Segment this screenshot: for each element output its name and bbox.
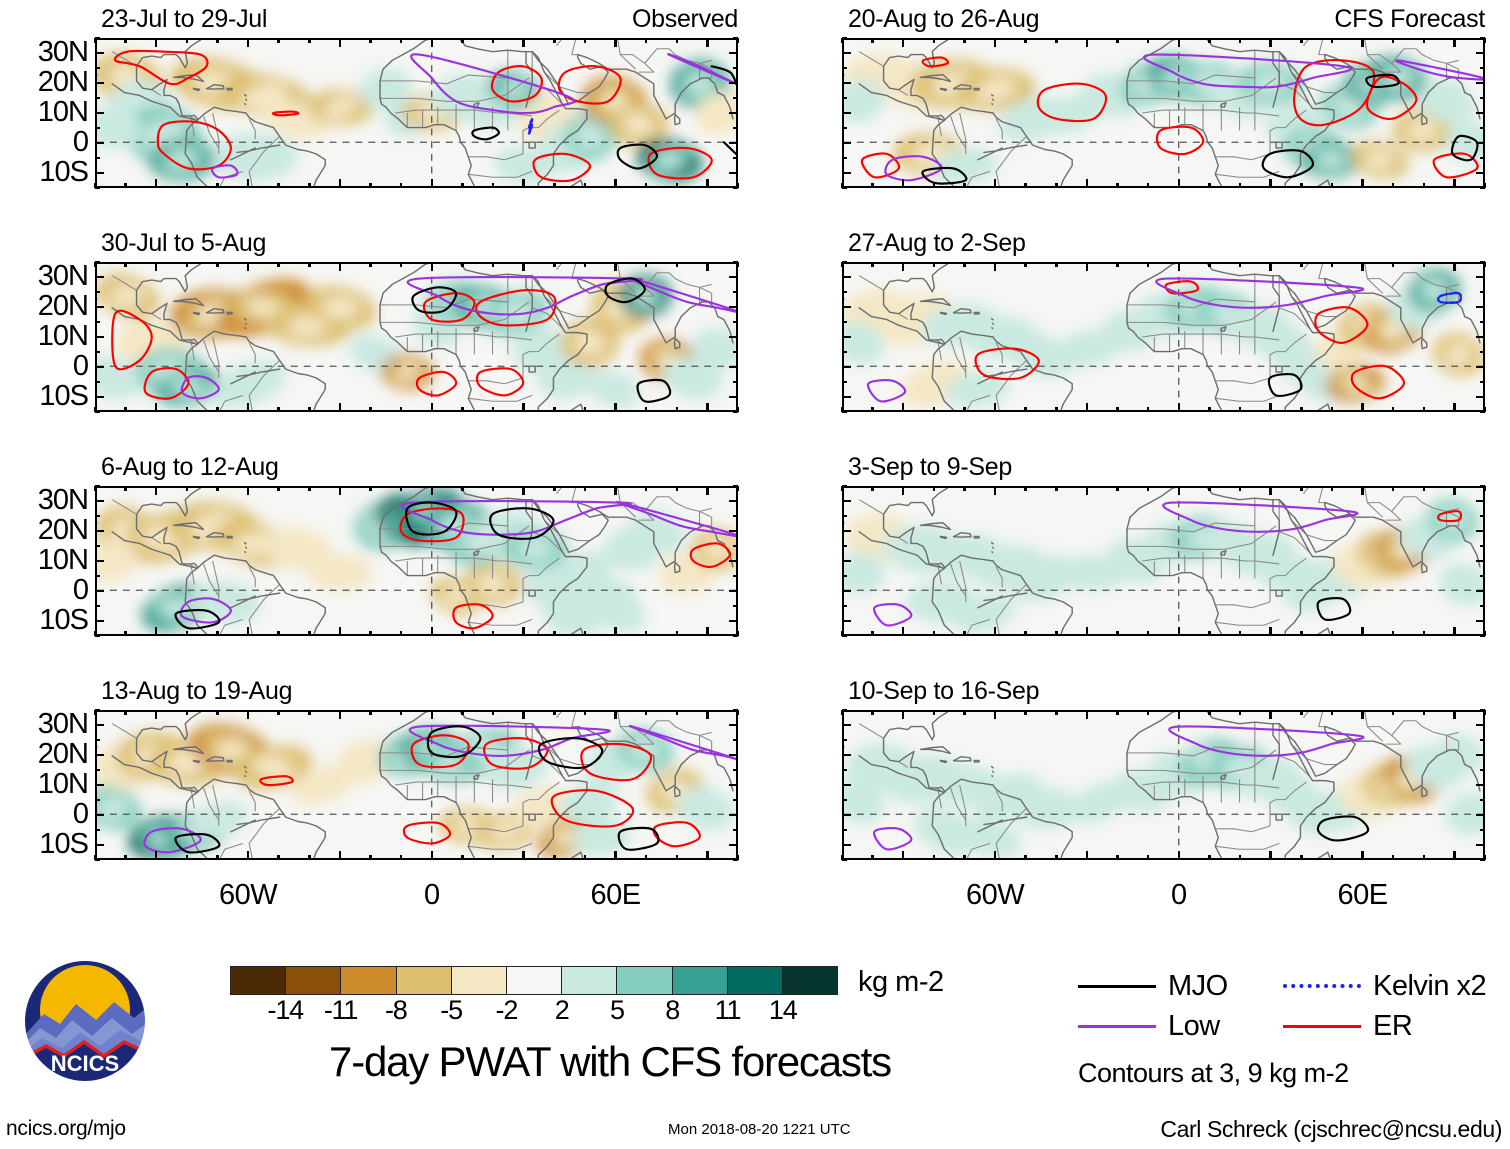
axis-tick <box>1480 187 1485 190</box>
axis-tick <box>733 635 738 638</box>
panel-title: 30-Jul to 5-Aug <box>101 231 266 256</box>
axis-tick <box>400 710 403 715</box>
axis-tick <box>369 631 372 636</box>
axis-tick <box>842 515 847 518</box>
y-axis-tick-label: 10N <box>0 770 88 799</box>
axis-tick <box>339 403 342 412</box>
colorbar-swatch <box>728 967 783 994</box>
axis-tick <box>842 620 851 623</box>
axis-tick <box>933 407 936 412</box>
legend-entry-low: Low <box>1078 1012 1283 1041</box>
axis-tick <box>1361 38 1364 47</box>
axis-tick <box>1361 403 1364 412</box>
axis-tick <box>733 351 738 354</box>
axis-tick <box>1055 183 1058 188</box>
timestamp: Mon 2018-08-20 1221 UTC <box>668 1122 851 1137</box>
axis-tick <box>645 486 648 491</box>
y-axis-tick-label: 20N <box>0 68 88 97</box>
axis-tick <box>1239 486 1242 491</box>
axis-tick <box>729 590 738 593</box>
map-canvas <box>844 712 1483 858</box>
colorbar-tick-label: -14 <box>268 995 303 1025</box>
axis-tick <box>842 411 847 414</box>
axis-tick <box>461 183 464 188</box>
axis-tick <box>339 486 342 495</box>
axis-tick <box>1392 262 1395 267</box>
axis-tick <box>216 486 219 491</box>
axis-tick <box>842 799 847 802</box>
axis-tick <box>1480 411 1485 414</box>
axis-tick <box>729 724 738 727</box>
axis-tick <box>729 754 738 757</box>
axis-tick <box>369 855 372 860</box>
y-axis-tick-label: 10N <box>0 98 88 127</box>
axis-tick <box>1300 855 1303 860</box>
axis-tick <box>842 261 847 264</box>
y-axis-tick-label: 0 <box>0 352 88 381</box>
axis-tick <box>1423 855 1426 860</box>
axis-tick <box>963 486 966 491</box>
axis-tick <box>1147 183 1150 188</box>
axis-tick <box>308 631 311 636</box>
axis-tick <box>706 710 709 719</box>
axis-tick <box>1055 262 1058 267</box>
axis-tick <box>733 739 738 742</box>
axis-tick <box>733 97 738 100</box>
axis-tick <box>339 851 342 860</box>
axis-tick <box>676 631 679 636</box>
axis-tick <box>842 321 847 324</box>
axis-tick <box>1178 710 1181 719</box>
axis-tick <box>1480 515 1485 518</box>
axis-tick <box>461 631 464 636</box>
axis-tick <box>1476 52 1485 55</box>
legend-line-swatch <box>1283 984 1361 988</box>
axis-tick <box>1208 486 1211 491</box>
axis-tick <box>95 411 100 414</box>
axis-tick <box>124 38 127 43</box>
axis-tick <box>95 560 104 563</box>
axis-tick <box>1086 179 1089 188</box>
axis-tick <box>1392 710 1395 715</box>
axis-tick <box>842 67 847 70</box>
axis-tick <box>1178 627 1181 636</box>
axis-tick <box>1480 829 1485 832</box>
axis-tick <box>676 38 679 43</box>
axis-tick <box>1392 183 1395 188</box>
axis-tick <box>1453 262 1456 271</box>
axis-tick <box>1453 710 1456 719</box>
axis-tick <box>1476 724 1485 727</box>
axis-tick <box>492 486 495 491</box>
axis-tick <box>339 262 342 271</box>
axis-tick <box>1476 784 1485 787</box>
axis-tick <box>729 52 738 55</box>
site-url[interactable]: ncics.org/mjo <box>6 1118 126 1139</box>
map-canvas <box>97 40 736 186</box>
axis-tick <box>584 38 587 43</box>
axis-tick <box>1300 486 1303 491</box>
axis-tick <box>400 486 403 491</box>
axis-tick <box>1178 38 1181 47</box>
axis-tick <box>1331 38 1334 43</box>
axis-tick <box>842 336 851 339</box>
axis-tick <box>553 407 556 412</box>
axis-tick <box>216 855 219 860</box>
forecast-header: CFS Forecast <box>842 7 1485 32</box>
axis-tick <box>842 575 847 578</box>
axis-tick <box>645 38 648 43</box>
legend-row: LowER <box>1078 1006 1498 1046</box>
axis-tick <box>186 262 189 267</box>
axis-tick <box>1239 710 1242 715</box>
axis-tick <box>902 486 905 495</box>
axis-tick <box>729 142 738 145</box>
axis-tick <box>553 710 556 715</box>
axis-tick <box>842 82 851 85</box>
observed-header: Observed <box>95 7 738 32</box>
axis-tick <box>1476 590 1485 593</box>
axis-tick <box>1361 627 1364 636</box>
axis-tick <box>933 710 936 715</box>
axis-tick <box>614 710 617 719</box>
axis-tick <box>1086 403 1089 412</box>
axis-tick <box>186 631 189 636</box>
axis-tick <box>706 627 709 636</box>
axis-tick <box>1239 183 1242 188</box>
axis-tick <box>902 38 905 47</box>
axis-tick <box>733 381 738 384</box>
axis-tick <box>933 38 936 43</box>
axis-tick <box>1480 321 1485 324</box>
axis-tick <box>1480 37 1485 40</box>
axis-tick <box>1331 710 1334 715</box>
axis-tick <box>216 183 219 188</box>
axis-tick <box>1361 710 1364 719</box>
axis-tick <box>553 183 556 188</box>
map-panel <box>95 710 738 860</box>
y-axis-tick-label: 30N <box>0 38 88 67</box>
axis-tick <box>1361 851 1364 860</box>
x-axis-tick-label: 60W <box>188 881 308 910</box>
axis-tick <box>733 291 738 294</box>
axis-tick <box>492 183 495 188</box>
axis-tick <box>492 407 495 412</box>
axis-tick <box>186 38 189 43</box>
axis-tick <box>902 851 905 860</box>
axis-tick <box>842 769 847 772</box>
axis-tick <box>216 631 219 636</box>
axis-tick <box>1480 575 1485 578</box>
legend-line-swatch <box>1078 985 1156 988</box>
axis-tick <box>1147 38 1150 43</box>
axis-tick <box>729 500 738 503</box>
map-canvas <box>97 488 736 634</box>
axis-tick <box>842 291 847 294</box>
axis-tick <box>124 262 127 267</box>
x-axis-tick-label: 0 <box>372 881 492 910</box>
axis-tick <box>277 710 280 715</box>
axis-tick <box>1480 381 1485 384</box>
axis-tick <box>155 179 158 188</box>
axis-tick <box>842 157 847 160</box>
axis-tick <box>95 844 104 847</box>
axis-tick <box>1423 262 1426 267</box>
axis-tick <box>461 486 464 491</box>
axis-tick <box>431 851 434 860</box>
axis-tick <box>1476 366 1485 369</box>
axis-tick <box>1239 38 1242 43</box>
axis-tick <box>216 407 219 412</box>
axis-tick <box>1300 407 1303 412</box>
axis-tick <box>994 38 997 47</box>
axis-tick <box>1147 855 1150 860</box>
axis-tick <box>1086 38 1089 47</box>
axis-tick <box>1300 183 1303 188</box>
axis-tick <box>522 486 525 495</box>
axis-tick <box>584 262 587 267</box>
axis-tick <box>1480 67 1485 70</box>
axis-tick <box>733 321 738 324</box>
axis-tick <box>431 403 434 412</box>
axis-tick <box>1024 38 1027 43</box>
axis-tick <box>461 38 464 43</box>
y-axis-tick-label: 10N <box>0 322 88 351</box>
axis-tick <box>553 631 556 636</box>
axis-tick <box>522 262 525 271</box>
axis-tick <box>247 710 250 719</box>
axis-tick <box>871 710 874 715</box>
axis-tick <box>1453 179 1456 188</box>
axis-tick <box>1453 486 1456 495</box>
axis-tick <box>553 38 556 43</box>
axis-tick <box>1147 710 1150 715</box>
colorbar-tick-label: -2 <box>496 995 518 1025</box>
axis-tick <box>842 306 851 309</box>
y-axis-tick-label: 10S <box>0 830 88 859</box>
axis-tick <box>1361 262 1364 271</box>
axis-tick <box>95 620 104 623</box>
colorbar-swatch <box>562 967 617 994</box>
axis-tick <box>1480 799 1485 802</box>
axis-tick <box>645 710 648 715</box>
axis-tick <box>186 183 189 188</box>
axis-tick <box>247 262 250 271</box>
axis-tick <box>124 631 127 636</box>
axis-tick <box>1331 407 1334 412</box>
axis-tick <box>1392 38 1395 43</box>
axis-tick <box>729 112 738 115</box>
map-panel <box>95 38 738 188</box>
axis-tick <box>1423 631 1426 636</box>
axis-tick <box>1116 38 1119 43</box>
colorbar-tick-label: 11 <box>715 995 741 1025</box>
axis-tick <box>1024 407 1027 412</box>
axis-tick <box>95 67 100 70</box>
axis-tick <box>963 38 966 43</box>
legend-line-swatch <box>1078 1025 1156 1028</box>
axis-tick <box>1392 407 1395 412</box>
map-panel <box>842 710 1485 860</box>
axis-tick <box>1300 631 1303 636</box>
axis-tick <box>339 38 342 47</box>
axis-tick <box>1453 403 1456 412</box>
x-axis-tick-label: 0 <box>1119 881 1239 910</box>
axis-tick <box>95 336 104 339</box>
axis-tick <box>1178 403 1181 412</box>
axis-tick <box>155 710 158 719</box>
colorbar-swatch <box>507 967 562 994</box>
axis-tick <box>522 179 525 188</box>
axis-tick <box>308 486 311 491</box>
axis-tick <box>1269 262 1272 271</box>
y-axis-tick-label: 10N <box>0 546 88 575</box>
axis-tick <box>1480 769 1485 772</box>
axis-tick <box>871 631 874 636</box>
axis-tick <box>369 710 372 715</box>
author-credit: Carl Schreck (cjschrec@ncsu.edu) <box>1160 1118 1502 1141</box>
colorbar-swatch <box>673 967 728 994</box>
axis-tick <box>95 500 104 503</box>
axis-tick <box>431 179 434 188</box>
axis-tick <box>1116 262 1119 267</box>
panel-title: 10-Sep to 16-Sep <box>848 679 1039 704</box>
axis-tick <box>1453 627 1456 636</box>
axis-tick <box>1147 631 1150 636</box>
axis-tick <box>614 179 617 188</box>
colorbar-units-label: kg m-2 <box>858 968 944 997</box>
axis-tick <box>277 631 280 636</box>
axis-tick <box>963 710 966 715</box>
legend-label: MJO <box>1168 972 1228 1001</box>
axis-tick <box>1055 855 1058 860</box>
axis-tick <box>994 486 997 495</box>
map-canvas <box>844 40 1483 186</box>
axis-tick <box>277 407 280 412</box>
axis-tick <box>461 262 464 267</box>
axis-tick <box>1269 486 1272 495</box>
y-axis-tick-label: 10S <box>0 606 88 635</box>
axis-tick <box>729 620 738 623</box>
axis-tick <box>95 157 100 160</box>
axis-tick <box>871 407 874 412</box>
axis-tick <box>842 112 851 115</box>
axis-tick <box>733 545 738 548</box>
axis-tick <box>733 261 738 264</box>
axis-tick <box>308 855 311 860</box>
axis-tick <box>706 403 709 412</box>
axis-tick <box>1208 262 1211 267</box>
axis-tick <box>733 859 738 862</box>
page-title: 7-day PWAT with CFS forecasts <box>230 1040 990 1084</box>
axis-tick <box>614 627 617 636</box>
y-axis-tick-label: 0 <box>0 800 88 829</box>
axis-tick <box>902 710 905 719</box>
axis-tick <box>369 183 372 188</box>
axis-tick <box>842 739 847 742</box>
axis-tick <box>553 855 556 860</box>
axis-tick <box>842 172 851 175</box>
axis-tick <box>400 855 403 860</box>
axis-tick <box>1480 127 1485 130</box>
axis-tick <box>95 739 100 742</box>
axis-tick <box>842 605 847 608</box>
axis-tick <box>1024 486 1027 491</box>
axis-tick <box>1086 262 1089 271</box>
axis-tick <box>584 710 587 715</box>
axis-tick <box>842 635 847 638</box>
axis-tick <box>95 545 100 548</box>
axis-tick <box>431 486 434 495</box>
axis-tick <box>1480 351 1485 354</box>
axis-tick <box>1055 486 1058 491</box>
axis-tick <box>994 179 997 188</box>
axis-tick <box>1147 486 1150 491</box>
axis-tick <box>1476 82 1485 85</box>
colorbar-swatch <box>617 967 672 994</box>
axis-tick <box>1208 710 1211 715</box>
axis-tick <box>155 403 158 412</box>
x-axis-tick-label: 60E <box>1303 881 1423 910</box>
y-axis-tick-label: 10S <box>0 158 88 187</box>
axis-tick <box>1116 631 1119 636</box>
axis-tick <box>842 37 847 40</box>
axis-tick <box>1476 620 1485 623</box>
axis-tick <box>871 38 874 43</box>
panel-title: 6-Aug to 12-Aug <box>101 455 279 480</box>
axis-tick <box>95 814 104 817</box>
axis-tick <box>842 485 847 488</box>
axis-tick <box>842 530 851 533</box>
axis-tick <box>871 262 874 267</box>
y-axis-tick-label: 20N <box>0 740 88 769</box>
colorbar-swatch <box>341 967 396 994</box>
axis-tick <box>842 351 847 354</box>
axis-tick <box>95 37 100 40</box>
axis-tick <box>1423 183 1426 188</box>
colorbar-tick-label: 14 <box>769 995 797 1025</box>
axis-tick <box>871 183 874 188</box>
axis-tick <box>95 321 100 324</box>
axis-tick <box>645 631 648 636</box>
axis-tick <box>1055 38 1058 43</box>
axis-tick <box>400 262 403 267</box>
colorbar-tick-label: 5 <box>610 995 624 1025</box>
axis-tick <box>95 82 104 85</box>
axis-tick <box>186 486 189 491</box>
axis-tick <box>95 575 100 578</box>
axis-tick <box>277 183 280 188</box>
axis-tick <box>95 306 104 309</box>
axis-tick <box>614 38 617 47</box>
contour-note: Contours at 3, 9 kg m-2 <box>1078 1060 1349 1087</box>
colorbar-tick-label: -11 <box>324 995 357 1025</box>
axis-tick <box>553 262 556 267</box>
axis-tick <box>1147 262 1150 267</box>
colorbar-swatches <box>230 966 838 995</box>
axis-tick <box>842 859 847 862</box>
axis-tick <box>733 605 738 608</box>
axis-tick <box>1086 627 1089 636</box>
axis-tick <box>842 560 851 563</box>
axis-tick <box>676 486 679 491</box>
axis-tick <box>1116 710 1119 715</box>
axis-tick <box>95 112 104 115</box>
axis-tick <box>676 710 679 715</box>
axis-tick <box>1055 710 1058 715</box>
axis-tick <box>1476 844 1485 847</box>
axis-tick <box>492 710 495 715</box>
